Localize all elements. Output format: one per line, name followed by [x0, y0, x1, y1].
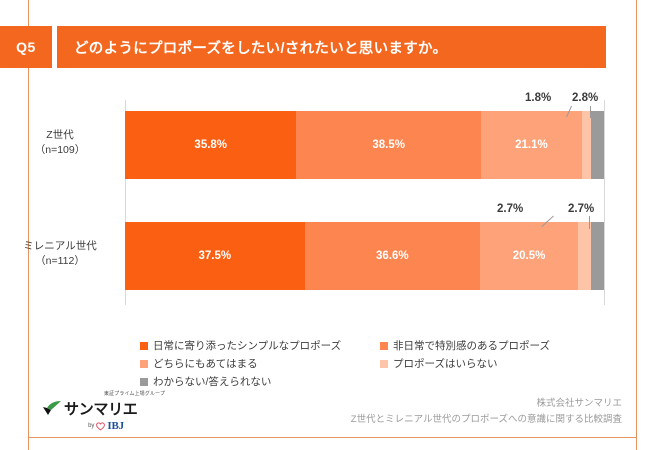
callout-value-none-millennial: 2.7% [497, 203, 523, 215]
category-label-z-generation: Z世代 （n=109） [0, 128, 120, 158]
stacked-bar-chart: Z世代 （n=109） 35.8% 38.5% 21.1% 1.8% 2.8% … [0, 78, 650, 328]
legend-label: 非日常で特別感のあるプロポーズ [393, 338, 550, 353]
footer-company: 株式会社サンマリエ [351, 396, 622, 412]
footer-survey-title: Z世代とミレニアル世代のプロポーズへの意識に関する比較調査 [351, 412, 622, 428]
bar-segment-special: 38.5% [296, 111, 480, 179]
logo-by-text: by [88, 423, 94, 429]
question-title: どのようにプロポーズをしたい/されたいと思いますか。 [57, 26, 606, 68]
plot-axis-right [604, 100, 605, 305]
bar-segment-both: 21.1% [481, 111, 582, 179]
legend-row: わからない/答えられない [140, 374, 610, 389]
legend-item-both: どちらにもあてはまる [140, 356, 380, 371]
logo-tagline: 東証プライム上場グループ [36, 391, 212, 398]
logo-partner-name: IBJ [107, 420, 124, 432]
legend-item-simple: 日常に寄り添ったシンプルなプロポーズ [140, 338, 380, 353]
bar-segment-unknown [591, 222, 604, 290]
bar-segment-both: 20.5% [480, 222, 578, 290]
logo-by-line: by IBJ [36, 420, 166, 432]
legend-swatch-icon [140, 360, 148, 368]
legend-item-none: プロポーズはいらない [380, 356, 497, 371]
legend-item-special: 非日常で特別感のあるプロポーズ [380, 338, 550, 353]
bar-z-generation: 35.8% 38.5% 21.1% [125, 111, 604, 179]
callout-value-none-z: 1.8% [525, 92, 551, 104]
bar-segment-simple: 35.8% [125, 111, 296, 179]
footer-credit: 株式会社サンマリエ Z世代とミレニアル世代のプロポーズへの意識に関する比較調査 [351, 396, 622, 428]
leaf-check-icon [42, 401, 62, 417]
legend-swatch-icon [380, 342, 388, 350]
slide-page: Q5 どのようにプロポーズをしたい/されたいと思いますか。 Z世代 （n=109… [0, 0, 650, 450]
legend-label: どちらにもあてはまる [153, 356, 258, 371]
chart-legend: 日常に寄り添ったシンプルなプロポーズ 非日常で特別感のあるプロポーズ どちらにも… [140, 338, 610, 392]
callout-value-unknown-z: 2.8% [572, 92, 598, 104]
bar-millennial: 37.5% 36.6% 20.5% [125, 222, 604, 290]
frame-border-bottom [28, 437, 637, 438]
legend-item-unknown: わからない/答えられない [140, 374, 380, 389]
legend-row: 日常に寄り添ったシンプルなプロポーズ 非日常で特別感のあるプロポーズ [140, 338, 610, 353]
legend-label: わからない/答えられない [153, 374, 271, 389]
legend-swatch-icon [140, 342, 148, 350]
callout-leader-unknown-millennial [589, 216, 590, 229]
bar-segment-none [578, 222, 591, 290]
question-header: Q5 どのようにプロポーズをしたい/されたいと思いますか。 [0, 26, 606, 68]
callout-leader-unknown-z [590, 106, 591, 118]
heart-icon [96, 422, 105, 431]
category-sample-size: （n=109） [0, 143, 120, 158]
category-sample-size: （n=112） [0, 254, 120, 269]
legend-swatch-icon [380, 360, 388, 368]
bar-segment-unknown [591, 111, 604, 179]
question-number-badge: Q5 [0, 26, 52, 68]
logo-main: サンマリエ [36, 398, 166, 419]
legend-label: プロポーズはいらない [393, 356, 497, 371]
bar-segment-none [582, 111, 591, 179]
company-logo: 東証プライム上場グループ サンマリエ by IBJ [36, 392, 166, 432]
category-name: Z世代 [46, 129, 73, 141]
bar-segment-simple: 37.5% [125, 222, 305, 290]
legend-row: どちらにもあてはまる プロポーズはいらない [140, 356, 610, 371]
logo-name: サンマリエ [64, 398, 138, 419]
callout-value-unknown-millennial: 2.7% [568, 203, 594, 215]
category-name: ミレニアル世代 [23, 240, 96, 252]
category-label-millennial: ミレニアル世代 （n=112） [0, 239, 120, 269]
legend-label: 日常に寄り添ったシンプルなプロポーズ [153, 338, 341, 353]
bar-segment-special: 36.6% [305, 222, 480, 290]
legend-swatch-icon [140, 378, 148, 386]
